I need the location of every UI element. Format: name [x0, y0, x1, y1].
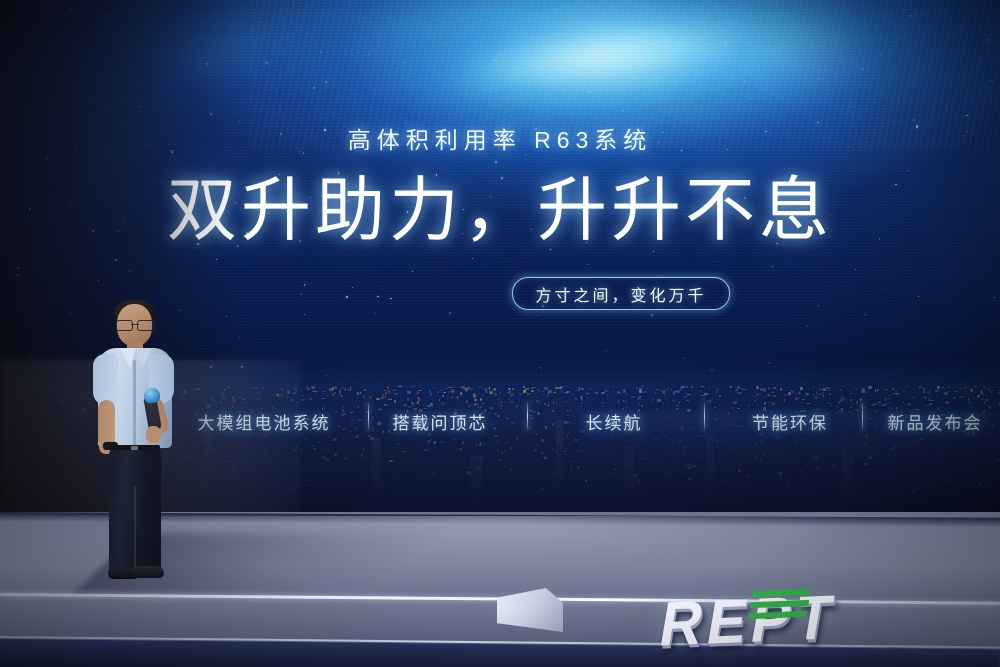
speaker-sleeve-left	[93, 354, 119, 406]
speaker-figure	[86, 300, 186, 590]
speaker-shirt-placket	[133, 360, 136, 446]
stage-photo: 高体积利用率 R63系统 双升助力，升升不息 方寸之间，变化万千 大模组电池系统…	[0, 0, 1000, 667]
speaker-hand-right	[146, 426, 161, 443]
rept-logo-accent	[747, 589, 811, 625]
rept-logo-text: REPT	[654, 572, 1000, 662]
glasses-icon	[116, 320, 154, 329]
rept-logo: REPT	[662, 582, 1000, 652]
speaker-shoe-right	[132, 566, 164, 578]
speaker-trouser-seam	[134, 486, 136, 572]
